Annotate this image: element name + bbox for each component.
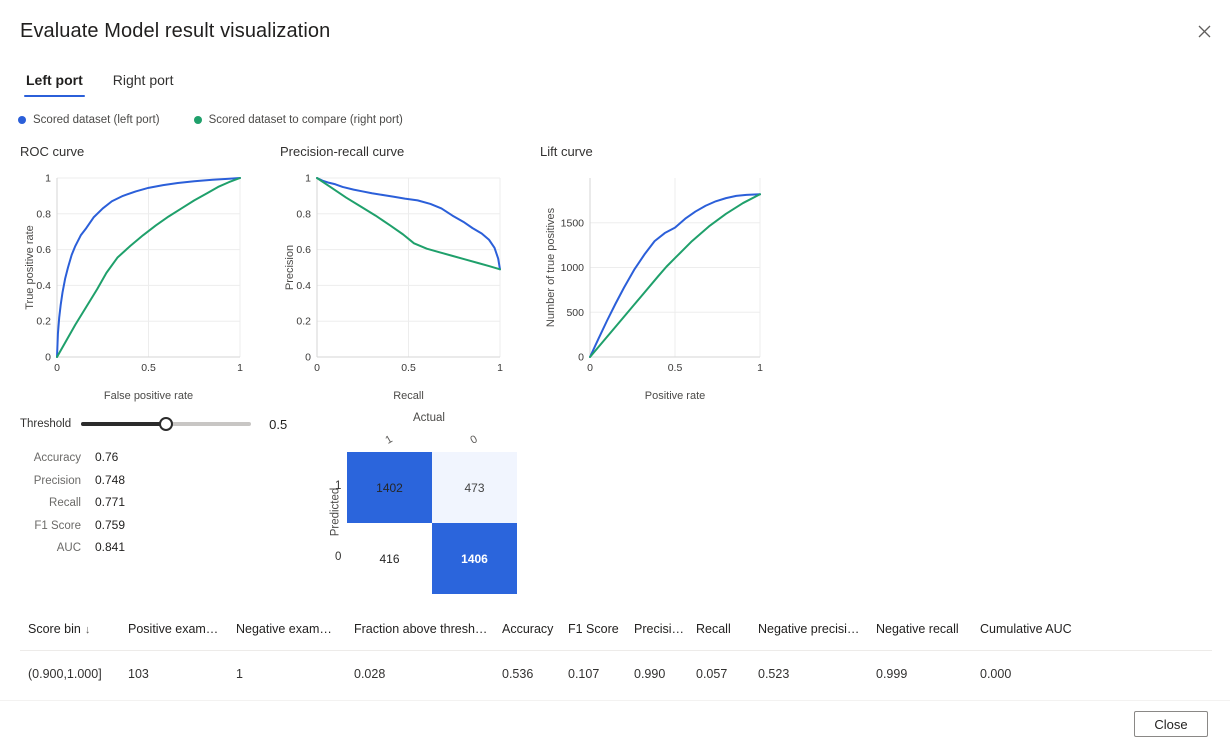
close-icon[interactable] (1186, 14, 1222, 48)
threshold-control: Threshold 0.5 (20, 414, 287, 434)
y-tick-label: 0.8 (36, 208, 51, 220)
threshold-value: 0.5 (269, 417, 287, 432)
y-tick-label: 0 (45, 352, 51, 364)
x-tick-label: 0.5 (668, 362, 683, 374)
threshold-slider[interactable] (81, 415, 251, 433)
table-column-header-label: Precisi… (634, 622, 684, 636)
metric-value: 0.759 (95, 518, 125, 532)
table-cell: 0.999 (876, 667, 980, 681)
slider-fill (81, 422, 166, 426)
threshold-label: Threshold (20, 418, 71, 430)
y-tick-label: 1500 (561, 217, 585, 229)
table-column-header[interactable]: Recall (696, 622, 758, 636)
y-axis-label: True positive rate (24, 225, 36, 310)
table-column-header-label: Recall (696, 622, 731, 636)
confusion-matrix: Actual Predicted 101014024734161406 (325, 410, 555, 605)
y-axis-label: Number of true positives (545, 207, 557, 327)
table-column-header[interactable]: Negative recall (876, 622, 980, 636)
metric-row: Recall0.771 (20, 495, 125, 518)
table-cell: 0.028 (354, 667, 502, 681)
table-column-header[interactable]: Precisi… (634, 622, 696, 636)
table-column-header[interactable]: Fraction above thresh… (354, 622, 502, 636)
legend-dot-blue (18, 116, 26, 124)
table-column-header[interactable]: Positive exam… (128, 622, 236, 636)
slider-thumb[interactable] (159, 417, 173, 431)
metric-row: Accuracy0.76 (20, 450, 125, 473)
y-tick-label: 0.2 (36, 316, 51, 328)
table-cell: 0.523 (758, 667, 876, 681)
y-tick-label: 1000 (561, 262, 585, 274)
table-column-header-label: Negative exam… (236, 622, 332, 636)
y-tick-label: 0 (578, 352, 584, 364)
y-tick-label: 0.6 (296, 244, 311, 256)
roc-plot: 00.20.40.60.8100.51True positive rateFal… (20, 163, 260, 403)
table-cell: (0.900,1.000] (28, 667, 128, 681)
roc-curve-chart: ROC curve 00.20.40.60.8100.51True positi… (20, 144, 260, 403)
table-column-header[interactable]: Cumulative AUC (980, 622, 1090, 636)
lift-curve-title: Lift curve (540, 144, 780, 159)
table-header-row: Score bin↓Positive exam…Negative exam…Fr… (20, 622, 1212, 651)
table-column-header-label: Score bin (28, 622, 81, 636)
confusion-matrix-col-header: 1 (383, 433, 394, 446)
x-tick-label: 1 (497, 362, 503, 374)
tab-left-port[interactable]: Left port (24, 70, 85, 97)
x-tick-label: 1 (757, 362, 763, 374)
y-tick-label: 0.4 (296, 280, 311, 292)
y-tick-label: 1 (45, 173, 51, 185)
table-row[interactable]: (0.900,1.000]10310.0280.5360.1070.9900.0… (20, 651, 1212, 681)
y-tick-label: 0.8 (296, 208, 311, 220)
table-cell: 0.536 (502, 667, 568, 681)
x-tick-label: 1 (237, 362, 243, 374)
legend-item-left-port: Scored dataset (left port) (18, 114, 160, 126)
x-tick-label: 0 (587, 362, 593, 374)
x-tick-label: 0.5 (141, 362, 156, 374)
confusion-matrix-actual-label: Actual (413, 412, 445, 424)
table-column-header[interactable]: F1 Score (568, 622, 634, 636)
metric-value: 0.771 (95, 495, 125, 509)
legend-label-right-port: Scored dataset to compare (right port) (209, 114, 403, 126)
y-tick-label: 0.4 (36, 280, 51, 292)
y-tick-label: 0.6 (36, 244, 51, 256)
table-column-header-label: Positive exam… (128, 622, 218, 636)
confusion-matrix-cell: 416 (347, 523, 432, 594)
table-column-header[interactable]: Negative exam… (236, 622, 354, 636)
table-column-header-label: Fraction above thresh… (354, 622, 487, 636)
x-tick-label: 0.5 (401, 362, 416, 374)
x-tick-label: 0 (314, 362, 320, 374)
confusion-matrix-predicted-label: Predicted (329, 488, 341, 537)
precision-recall-curve-chart: Precision-recall curve 00.20.40.60.8100.… (280, 144, 520, 403)
legend-item-right-port: Scored dataset to compare (right port) (194, 114, 403, 126)
y-tick-label: 1 (305, 173, 311, 185)
table-column-header-label: F1 Score (568, 622, 619, 636)
metric-value: 0.76 (95, 450, 118, 464)
confusion-matrix-row-header: 0 (335, 551, 341, 563)
evaluate-model-dialog: Evaluate Model result visualization Left… (0, 0, 1230, 743)
table-cell: 0.000 (980, 667, 1090, 681)
roc-curve-title: ROC curve (20, 144, 260, 159)
table-column-header-label: Negative precisi… (758, 622, 859, 636)
y-axis-label: Precision (284, 245, 296, 290)
confusion-matrix-row-header: 1 (335, 480, 341, 492)
table-body: (0.900,1.000]10310.0280.5360.1070.9900.0… (20, 651, 1212, 681)
y-tick-label: 0 (305, 352, 311, 364)
lift-curve-chart: Lift curve 05001000150000.51Number of tr… (540, 144, 780, 403)
legend-dot-green (194, 116, 202, 124)
metric-name: Recall (20, 497, 95, 509)
chart-legend: Scored dataset (left port) Scored datase… (18, 114, 437, 126)
table-column-header-label: Negative recall (876, 622, 959, 636)
y-tick-label: 500 (566, 307, 584, 319)
table-column-header-label: Cumulative AUC (980, 622, 1072, 636)
table-cell: 0.057 (696, 667, 758, 681)
legend-label-left-port: Scored dataset (left port) (33, 114, 160, 126)
confusion-matrix-cell: 473 (432, 452, 517, 523)
x-axis-label: Positive rate (645, 390, 706, 402)
x-axis-label: Recall (393, 390, 424, 402)
metric-row: Precision0.748 (20, 473, 125, 496)
table-column-header-label: Accuracy (502, 622, 553, 636)
confusion-matrix-cell: 1402 (347, 452, 432, 523)
metrics-list: Accuracy0.76Precision0.748Recall0.771F1 … (20, 450, 125, 563)
metric-name: Precision (20, 475, 95, 487)
lift-plot: 05001000150000.51Number of true positive… (540, 163, 780, 403)
tab-right-port[interactable]: Right port (111, 70, 176, 97)
sort-descending-icon: ↓ (85, 624, 91, 636)
y-tick-label: 0.2 (296, 316, 311, 328)
metric-name: Accuracy (20, 452, 95, 464)
metric-value: 0.748 (95, 473, 125, 487)
port-tabs: Left port Right port (24, 70, 175, 97)
x-tick-label: 0 (54, 362, 60, 374)
confusion-matrix-col-header: 0 (468, 433, 479, 446)
metric-name: AUC (20, 542, 95, 554)
page-title: Evaluate Model result visualization (20, 20, 330, 43)
table-cell: 0.107 (568, 667, 634, 681)
table-column-header[interactable]: Accuracy (502, 622, 568, 636)
precision-recall-curve-title: Precision-recall curve (280, 144, 520, 159)
metric-value: 0.841 (95, 540, 125, 554)
table-cell: 1 (236, 667, 354, 681)
table-column-header[interactable]: Score bin↓ (28, 622, 128, 636)
precision-recall-plot: 00.20.40.60.8100.51PrecisionRecall (280, 163, 520, 403)
score-bin-table: Score bin↓Positive exam…Negative exam…Fr… (20, 622, 1212, 681)
table-column-header[interactable]: Negative precisi… (758, 622, 876, 636)
metric-name: F1 Score (20, 520, 95, 532)
close-button[interactable]: Close (1134, 711, 1208, 737)
footer-divider (0, 700, 1230, 701)
x-axis-label: False positive rate (104, 390, 193, 402)
confusion-matrix-cell: 1406 (432, 523, 517, 594)
table-cell: 103 (128, 667, 236, 681)
metric-row: F1 Score0.759 (20, 518, 125, 541)
metric-row: AUC0.841 (20, 540, 125, 563)
table-cell: 0.990 (634, 667, 696, 681)
